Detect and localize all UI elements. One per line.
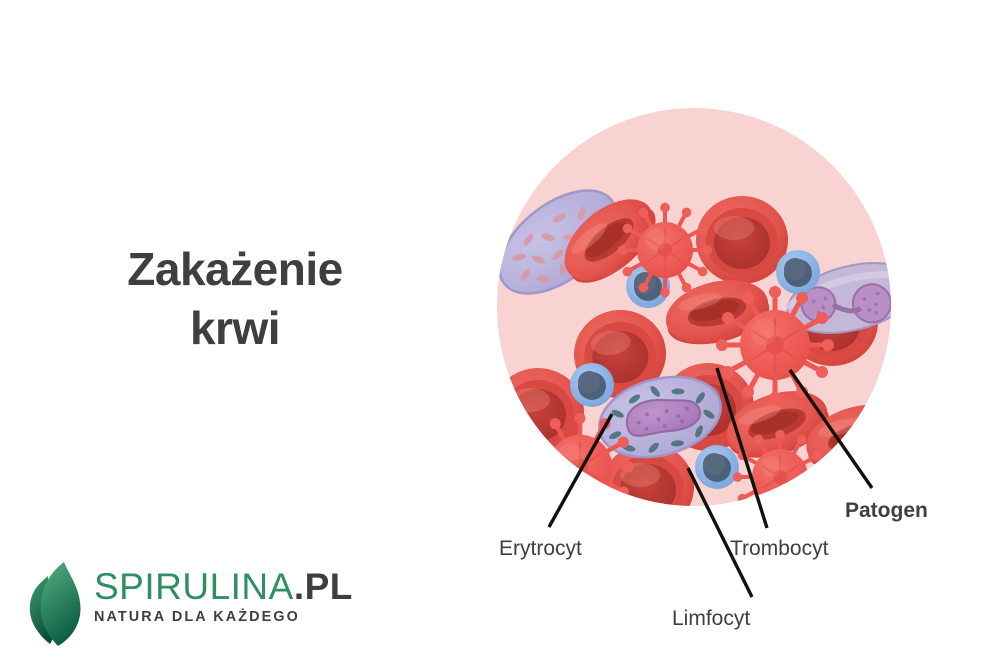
lymphocyte-cell [599,511,730,600]
thrombocyte-cell [695,445,739,489]
label-trombocyt: Trombocyt [730,538,828,559]
blood-illustration [480,92,900,522]
logo-brand: SPIRULINA [94,566,294,607]
thrombocyte-cell [818,455,862,499]
leaf-icon [22,560,88,648]
label-limfocyt: Limfocyt [672,608,750,629]
logo-tld: .PL [294,566,353,607]
logo-text-group: SPIRULINA.PL NATURA DLA KAŻDEGO [94,568,353,624]
thrombocyte-cell [570,363,614,407]
page-title: Zakażenie krwi [0,240,470,358]
infographic-canvas: Zakażenie krwi [0,0,1000,667]
label-patogen: Patogen [845,500,928,521]
logo-wordmark: SPIRULINA.PL [94,568,353,605]
spirulina-logo[interactable]: SPIRULINA.PL NATURA DLA KAŻDEGO [22,558,322,650]
thrombocyte-cell [776,250,820,294]
logo-tagline: NATURA DLA KAŻDEGO [94,610,353,624]
label-erytrocyt: Erytrocyt [499,538,582,559]
erythrocyte-cell [696,196,788,284]
